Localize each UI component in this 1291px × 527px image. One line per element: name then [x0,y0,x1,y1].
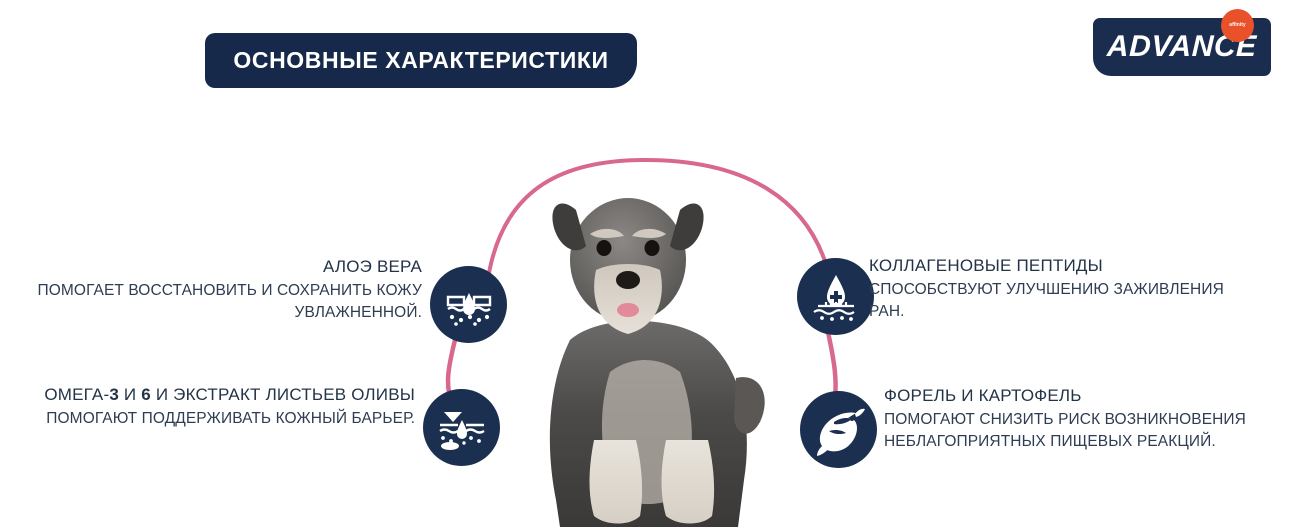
dog-front-leg-right [662,440,715,524]
feature-omega-title-part1: ОМЕГА- [44,385,109,404]
feature-collagen: КОЛЛАГЕНОВЫЕ ПЕПТИДЫ СПОСОБСТВУЮТ УЛУЧШЕ… [869,255,1261,322]
dog-eye-right [645,240,660,256]
dog-eye-left [597,240,612,256]
feature-collagen-body: СПОСОБСТВУЮТ УЛУЧШЕНИЮ ЗАЖИВЛЕНИЯ РАН. [869,279,1261,322]
feature-omega-title-num1: 3 [109,385,119,404]
dog-tail [734,377,765,434]
skin-barrier-droplet-icon [423,389,500,466]
droplet-cross-wound-icon [797,258,874,335]
feature-omega-body: ПОМОГАЮТ ПОДДЕРЖИВАТЬ КОЖНЫЙ БАРЬЕР. [10,408,415,429]
feature-fish: ФОРЕЛЬ И КАРТОФЕЛЬ ПОМОГАЮТ СНИЗИТЬ РИСК… [884,385,1264,452]
feature-omega: ОМЕГА-3 И 6 И ЭКСТРАКТ ЛИСТЬЕВ ОЛИВЫ ПОМ… [10,384,415,430]
feature-fish-title: ФОРЕЛЬ И КАРТОФЕЛЬ [884,385,1264,407]
feature-aloe-title: АЛОЭ ВЕРА [10,256,422,278]
dog-nose [616,271,640,289]
feature-aloe: АЛОЭ ВЕРА ПОМОГАЕТ ВОССТАНОВИТЬ И СОХРАН… [10,256,422,323]
dog-tongue [617,303,639,317]
infographic-page: ОСНОВНЫЕ ХАРАКТЕРИСТИКИ ADVANCE affinity [0,0,1291,527]
feature-omega-title-part2: И [119,385,141,404]
skin-hydration-droplet-icon [430,266,507,343]
schnauzer-dog-photo [498,140,798,527]
trout-fish-icon [800,391,877,468]
feature-aloe-body: ПОМОГАЕТ ВОССТАНОВИТЬ И СОХРАНИТЬ КОЖУ У… [10,280,422,323]
dog-front-leg-left [590,440,643,524]
feature-omega-title: ОМЕГА-3 И 6 И ЭКСТРАКТ ЛИСТЬЕВ ОЛИВЫ [10,384,415,406]
feature-fish-body: ПОМОГАЮТ СНИЗИТЬ РИСК ВОЗНИКНОВЕНИЯ НЕБЛ… [884,409,1264,452]
feature-omega-title-part3: И ЭКСТРАКТ ЛИСТЬЕВ ОЛИВЫ [151,385,415,404]
feature-collagen-title: КОЛЛАГЕНОВЫЕ ПЕПТИДЫ [869,255,1261,277]
feature-omega-title-num2: 6 [141,385,151,404]
